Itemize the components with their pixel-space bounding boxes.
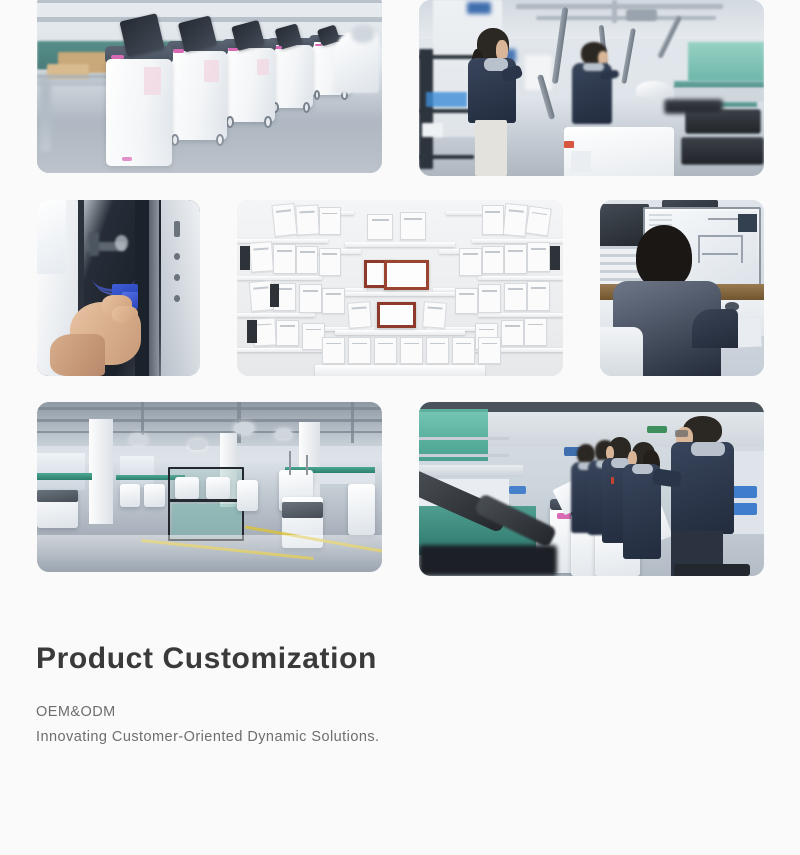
subtitle-line-tagline: Innovating Customer-Oriented Dynamic Sol… [36,725,800,750]
tile-2-scene [419,0,764,176]
tile-7-scene [419,402,764,576]
subtitle-block: OEM&ODM Innovating Customer-Oriented Dyn… [36,700,800,750]
product-customization-section: Product Customization OEM&ODM Innovating… [0,640,800,750]
tile-6-scene [37,402,382,572]
gallery-image-factory-floor[interactable] [37,402,382,572]
tile-5-scene [600,200,764,376]
page-root: Product Customization OEM&ODM Innovating… [0,0,800,855]
gallery-image-assembly-workers[interactable] [419,402,764,576]
tile-1-scene [37,0,382,173]
gallery-image-certificate-wall[interactable] [237,200,563,376]
tile-4-scene [237,200,563,376]
page-title: Product Customization [36,640,800,678]
gallery-image-arm-assembly[interactable] [419,0,764,176]
gallery-image-connector-install[interactable] [37,200,200,376]
subtitle-line-oem-odm: OEM&ODM [36,700,800,725]
tile-3-scene [37,200,200,376]
gallery-image-production-line[interactable] [37,0,382,173]
gallery-image-cad-engineer[interactable] [600,200,764,376]
